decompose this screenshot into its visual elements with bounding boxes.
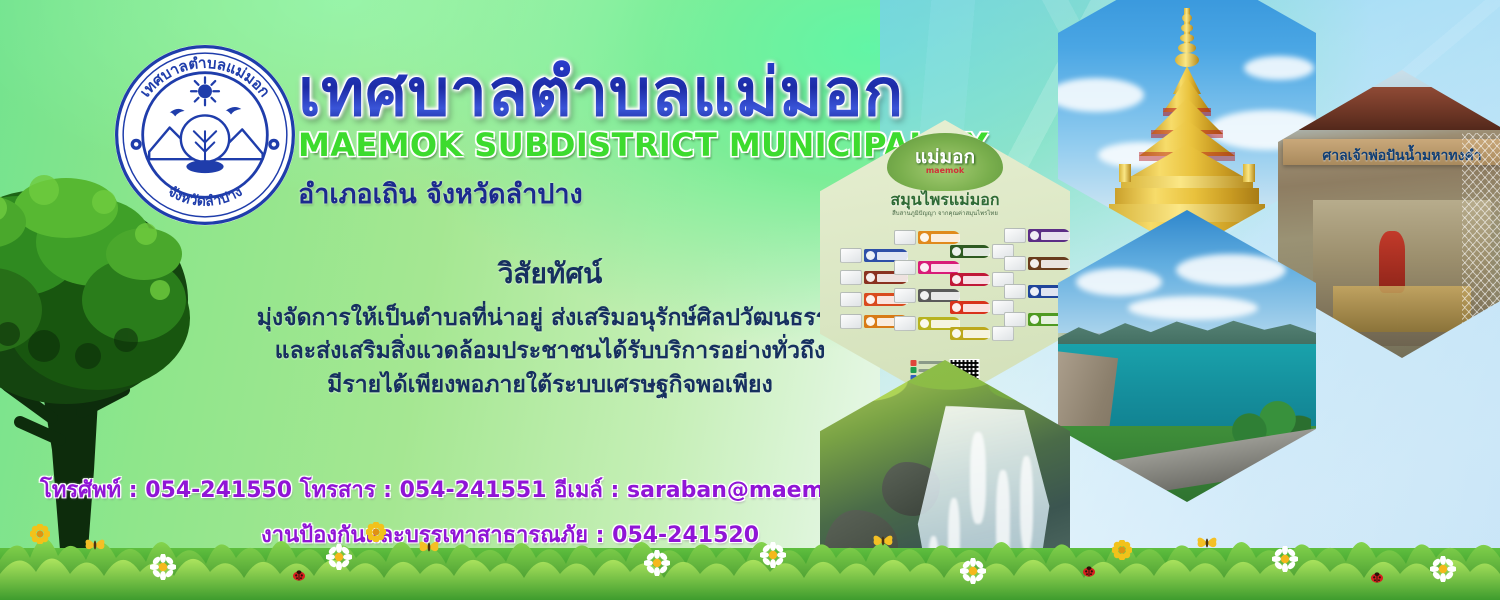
white-daisy-icon [644,550,670,576]
contact-line-phone-fax-email[interactable]: โทรศัพท์ : 054-241550 โทรสาร : 054-24155… [40,472,860,507]
poster-subtitle: สืบสานภูมิปัญญา จากคุณค่าสมุนไพรไทย [892,208,998,218]
pagoda-caption: วัดพ บ้านกุ่ อำเภ [1282,0,1310,10]
ladybug-icon [292,570,306,581]
yellow-flower-icon [366,522,386,542]
shrine-altar [1333,286,1472,332]
ladybug-icon [1082,566,1096,577]
white-daisy-icon [760,542,786,568]
hex-dam-reservoir[interactable] [1058,210,1316,502]
butterfly-icon [872,532,894,549]
yellow-flower-icon [1112,540,1132,560]
shrine-sign-text: ศาลเจ้าพ่อปันน้ำมหาทงคำ [1322,145,1481,167]
yellow-flower-icon [30,524,50,544]
white-daisy-icon [960,558,986,584]
poster-logo-subtext: maemok [926,166,964,175]
ladybug-icon [1370,572,1384,583]
hexagon-photo-cluster: แม่มอก maemok สมุนไพรแม่มอก สืบสานภูมิปั… [800,0,1500,600]
butterfly-icon [1196,534,1218,551]
pagoda-caption-line3: อำเภ [1282,0,1310,10]
shrine-statue [1379,231,1405,293]
municipality-seal: เทศบาลตำบลแม่มอก จังหวัดลำปาง [112,42,298,228]
butterfly-icon [418,538,440,555]
white-daisy-icon [1272,546,1298,572]
white-daisy-icon [1430,556,1456,582]
pagoda-structure [1105,8,1269,238]
white-daisy-icon [326,544,352,570]
shrine-mesh-fence [1462,133,1500,340]
grass-border [0,514,1500,600]
butterfly-icon [84,536,106,553]
poster-product-grid [832,222,1058,350]
banner-root: เทศบาลตำบลแม่มอก จังหวัดลำปาง เทศบาลตำบล… [0,0,1500,600]
white-daisy-icon [150,554,176,580]
